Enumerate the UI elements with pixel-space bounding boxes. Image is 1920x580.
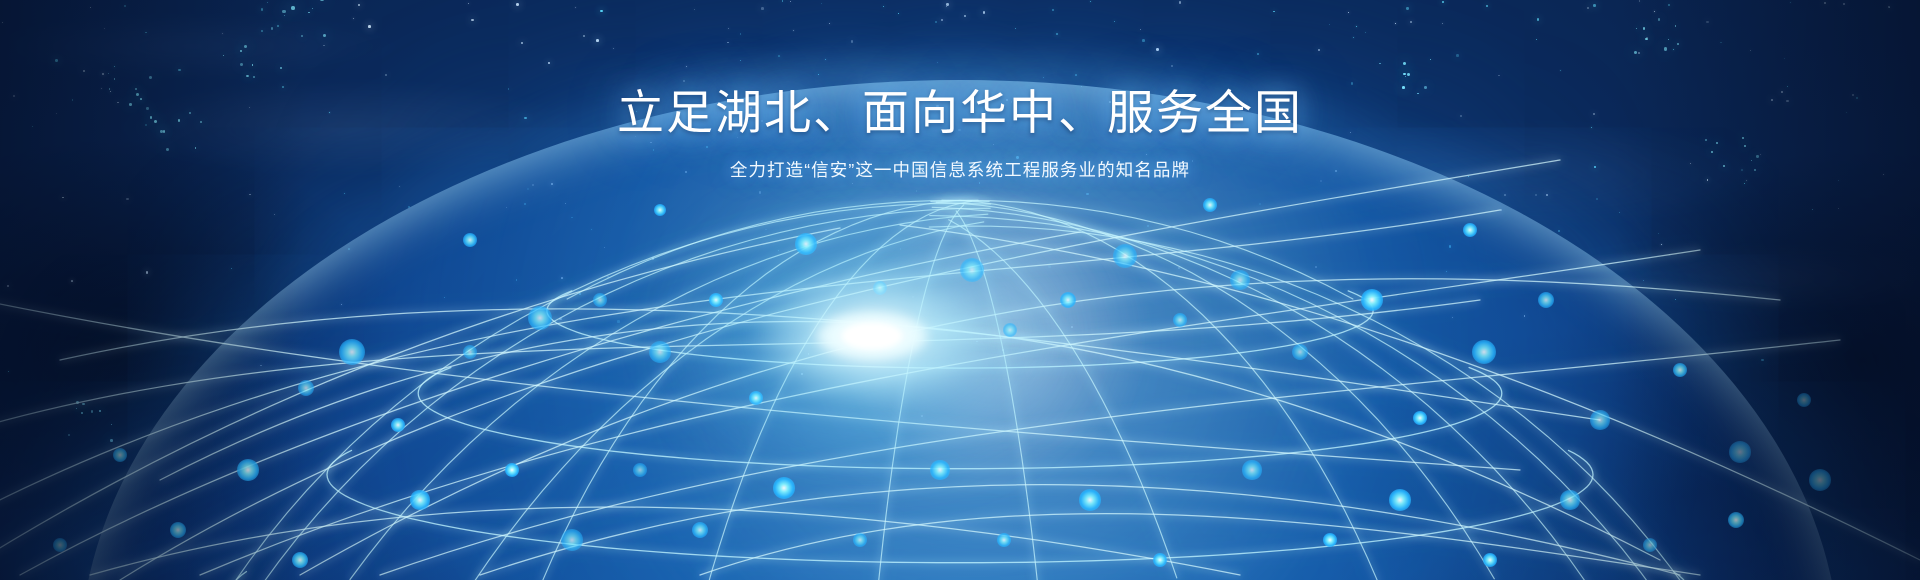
banner-copy: 立足湖北、面向华中、服务全国 全力打造“信安”这一中国信息系统工程服务业的知名品… (0, 0, 1920, 182)
banner-subline: 全力打造“信安”这一中国信息系统工程服务业的知名品牌 (0, 157, 1920, 182)
hero-banner: 立足湖北、面向华中、服务全国 全力打造“信安”这一中国信息系统工程服务业的知名品… (0, 0, 1920, 580)
banner-headline: 立足湖北、面向华中、服务全国 (0, 0, 1920, 141)
light-burst-hot (842, 323, 902, 349)
